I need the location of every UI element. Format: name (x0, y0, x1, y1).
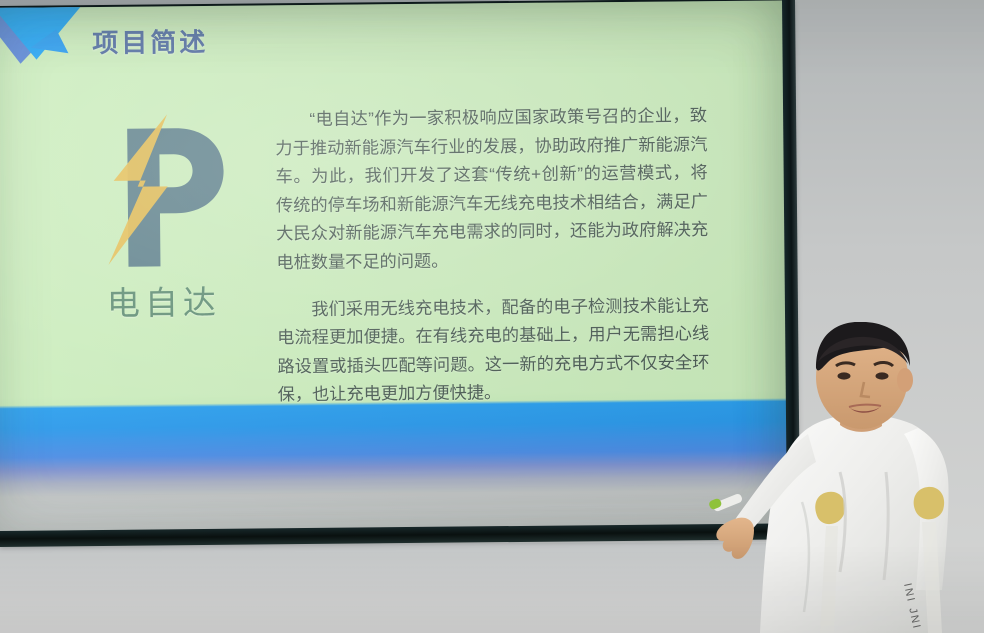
company-logo-block: 电自达 (77, 113, 259, 340)
slide-body-copy: “电自达”作为一家积极响应国家政策号召的企业，致力于推动新能源汽车行业的发展，协… (275, 101, 710, 427)
wall-below-screen (0, 543, 800, 633)
right-eye (876, 372, 889, 379)
photo-scene: 项目简述 电自达 “电自达”作为一家积极响应国家政策号召的企业，致力于推动新能源… (0, 0, 984, 633)
hand (716, 518, 754, 559)
slide-title: 项目简述 (92, 22, 208, 60)
left-eye (838, 372, 851, 379)
dianzida-logo-icon (83, 114, 235, 275)
body-paragraph-2: 我们采用无线充电技术，配备的电子检测技术能让充电流程更加便捷。在有线充电的基础上… (277, 291, 710, 410)
logo-wordmark: 电自达 (89, 276, 239, 325)
projected-slide: 项目简述 电自达 “电自达”作为一家积极响应国家政策号召的企业，致力于推动新能源… (0, 0, 790, 534)
presenter-person: INI JNI (690, 322, 984, 633)
blue-chevron-mark (0, 3, 99, 66)
body-paragraph-1: “电自达”作为一家积极响应国家政策号召的企业，致力于推动新能源汽车行业的发展，协… (275, 101, 709, 277)
